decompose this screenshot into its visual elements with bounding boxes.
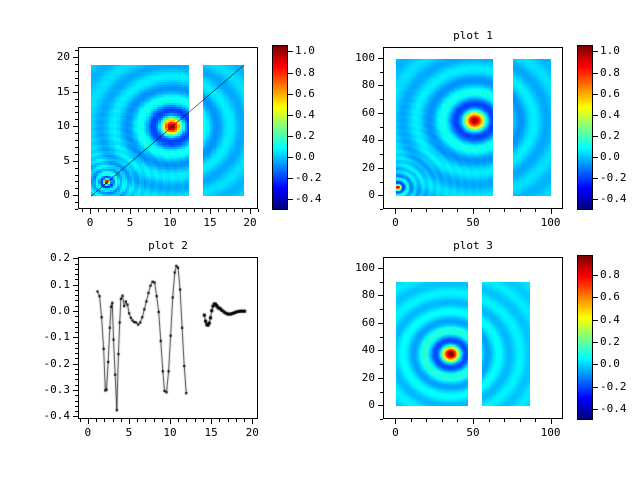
axis-tick xyxy=(489,419,490,422)
axis-tick xyxy=(380,337,383,338)
y-tick-label: 40 xyxy=(330,343,375,356)
axis-tick xyxy=(426,419,427,422)
colorbar-tick xyxy=(593,320,598,321)
axis-tick xyxy=(442,419,443,422)
colorbar xyxy=(577,255,593,420)
axis-tick xyxy=(395,419,396,424)
x-tick-label: 100 xyxy=(531,426,571,439)
axis-tick xyxy=(551,419,552,424)
axis-tick xyxy=(378,405,383,406)
colorbar-tick xyxy=(593,387,598,388)
axes-frame xyxy=(383,257,563,419)
y-tick-label: 60 xyxy=(330,316,375,329)
colorbar-tick-label: -0.2 xyxy=(600,380,640,393)
colorbar-tick-label: -0.4 xyxy=(600,402,640,415)
y-tick-label: 0 xyxy=(330,398,375,411)
colorbar-tick xyxy=(593,364,598,365)
plot-title: plot 3 xyxy=(383,239,563,253)
image-data xyxy=(384,258,563,419)
axis-tick xyxy=(378,323,383,324)
axis-tick xyxy=(380,364,383,365)
colorbar-tick-label: 0.8 xyxy=(600,268,640,281)
colorbar-tick-label: 0.0 xyxy=(600,357,640,370)
axis-tick xyxy=(378,295,383,296)
axis-tick xyxy=(380,419,383,420)
colorbar-tick-label: 0.6 xyxy=(600,290,640,303)
y-tick-label: 80 xyxy=(330,288,375,301)
colorbar-tick-label: 0.4 xyxy=(600,313,640,326)
image-panel-plot-3: plot 3050100020406080100-0.4-0.20.00.20.… xyxy=(0,0,640,480)
y-tick-label: 100 xyxy=(330,261,375,274)
axis-tick xyxy=(380,282,383,283)
axis-tick xyxy=(378,350,383,351)
colorbar-tick xyxy=(593,297,598,298)
axis-tick xyxy=(378,268,383,269)
axis-tick xyxy=(411,419,412,422)
colorbar-tick xyxy=(593,342,598,343)
colorbar-gradient xyxy=(578,256,592,419)
colorbar-tick-label: 0.2 xyxy=(600,335,640,348)
x-tick-label: 50 xyxy=(453,426,493,439)
colorbar-tick xyxy=(593,275,598,276)
x-tick-label: 0 xyxy=(375,426,415,439)
axis-tick xyxy=(457,419,458,422)
colorbar-tick xyxy=(593,409,598,410)
axis-tick xyxy=(378,378,383,379)
y-tick-label: 20 xyxy=(330,371,375,384)
axis-tick xyxy=(380,392,383,393)
axis-tick xyxy=(473,419,474,424)
figure-canvas: 0510152005101520-0.4-0.20.00.20.40.60.81… xyxy=(0,0,640,480)
axis-tick xyxy=(380,309,383,310)
axis-tick xyxy=(504,419,505,422)
axis-tick xyxy=(535,419,536,422)
axis-tick xyxy=(520,419,521,422)
